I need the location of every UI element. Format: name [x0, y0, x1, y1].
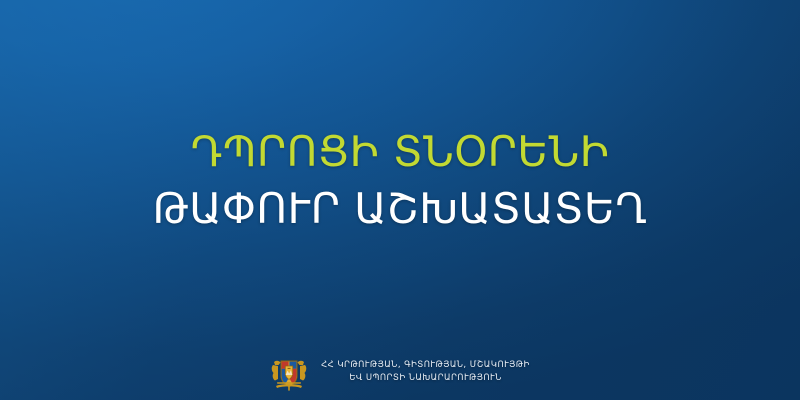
ministry-name-line-1: ՀՀ ԿՐԹՈՒԹՅԱՆ, ԳԻՏՈՒԹՅԱՆ, ՄՇԱԿՈՒՅԹԻ [321, 359, 530, 372]
ministry-name-line-2: ԵՎ ՍՊՈՐՏԻ ՆԱԽԱՐԱՐՈՒԹՅՈՒՆ [321, 372, 530, 385]
announcement-banner: ԴՊՐՈՑԻ ՏՆՕՐԵՆԻ ԹԱՓՈՒՐ ԱՇԽԱՏԱՏԵՂ [0, 0, 800, 400]
headline-line-primary: ԴՊՐՈՑԻ ՏՆՕՐԵՆԻ [0, 128, 800, 177]
armenia-coat-of-arms-icon [270, 352, 308, 392]
headline-line-secondary: ԹԱՓՈՒՐ ԱՇԽԱՏԱՏԵՂ [0, 185, 800, 234]
footer-branding: ՀՀ ԿՐԹՈՒԹՅԱՆ, ԳԻՏՈՒԹՅԱՆ, ՄՇԱԿՈՒՅԹԻ ԵՎ ՍՊ… [0, 352, 800, 392]
headline-block: ԴՊՐՈՑԻ ՏՆՕՐԵՆԻ ԹԱՓՈՒՐ ԱՇԽԱՏԱՏԵՂ [0, 128, 800, 233]
ministry-name: ՀՀ ԿՐԹՈՒԹՅԱՆ, ԳԻՏՈՒԹՅԱՆ, ՄՇԱԿՈՒՅԹԻ ԵՎ ՍՊ… [321, 359, 530, 385]
